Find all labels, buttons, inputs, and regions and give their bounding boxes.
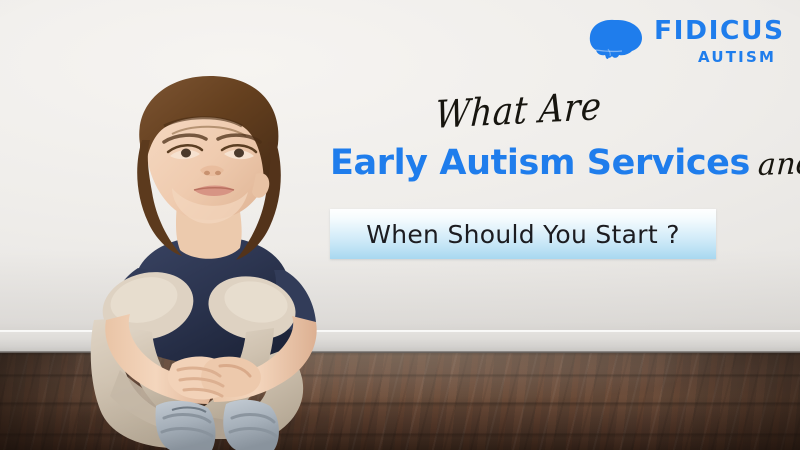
promo-banner: FIDICUS AUTISM What Are Early Autism Ser… [0, 0, 800, 450]
subheadline-banner: When Should You Start ? [330, 209, 716, 259]
headline-emphasis: Early Autism Services [330, 143, 750, 183]
floor-right-shading [650, 353, 800, 450]
brand-name: FIDICUS [654, 18, 785, 44]
brain-icon [588, 18, 644, 60]
brand-logo[interactable]: FIDICUS AUTISM [588, 14, 784, 76]
brand-tagline: AUTISM [698, 50, 776, 65]
headline-main-line: Early Autism Servicesand [330, 146, 800, 181]
boy-photo [60, 70, 350, 450]
subheadline-text: When Should You Start ? [366, 220, 680, 249]
headline-script-prefix: What Are [434, 84, 603, 138]
headline-script-suffix: and [757, 149, 800, 181]
